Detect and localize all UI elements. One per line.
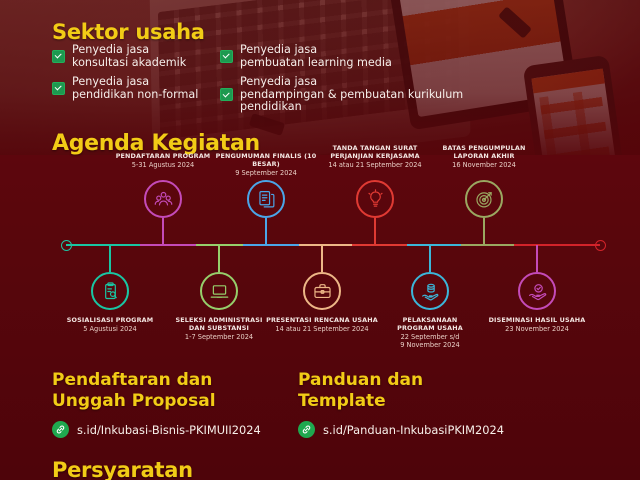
milestone-title: DISEMINASI HASIL USAHA <box>473 316 601 324</box>
timeline-start-marker <box>61 240 72 251</box>
persyaratan-heading: Persyaratan <box>52 458 193 480</box>
sektor-usaha-heading: Sektor usaha <box>52 20 205 44</box>
link-chain-icon <box>52 421 69 438</box>
timeline-node-4 <box>303 272 341 310</box>
hand-check-icon <box>527 281 548 302</box>
timeline-node-0 <box>91 272 129 310</box>
sektor-item-0: Penyedia jasa konsultasi akademik <box>52 44 186 69</box>
timeline-node-1 <box>144 180 182 218</box>
briefcase-icon <box>312 281 333 302</box>
timeline-stem <box>218 245 220 272</box>
infographic-canvas: Sektor usaha Penyedia jasa konsultasi ak… <box>0 0 640 480</box>
link-row[interactable]: s.id/Panduan-InkubasiPKIM2024 <box>298 421 504 438</box>
timeline-segment <box>461 244 514 246</box>
timeline-node-3 <box>247 180 285 218</box>
sektor-item-label: Penyedia jasa pendidikan non-formal <box>72 76 198 101</box>
people-group-icon <box>153 189 174 210</box>
timeline-stem <box>162 218 164 245</box>
milestone-date: 1-7 September 2024 <box>155 333 283 341</box>
timeline-stem <box>536 245 538 272</box>
link-url[interactable]: s.id/Inkubasi-Bisnis-PKIMUII2024 <box>77 423 261 437</box>
timeline-stem <box>483 218 485 245</box>
sektor-item-label: Penyedia jasa pembuatan learning media <box>240 44 392 69</box>
timeline-segment <box>243 244 299 246</box>
timeline-stem <box>265 218 267 245</box>
checkbox-checked-icon <box>220 88 233 101</box>
checkbox-checked-icon <box>52 50 65 63</box>
link-chain-icon <box>298 421 315 438</box>
timeline-end-marker <box>595 240 606 251</box>
milestone-title: BATAS PENGUMPULAN LAPORAN AKHIR <box>420 144 548 160</box>
timeline-segment <box>352 244 407 246</box>
link-block-pendaftaran: Pendaftaran dan Unggah Proposal s.id/Ink… <box>52 370 261 438</box>
timeline-segment <box>407 244 461 246</box>
agenda-timeline: SOSIALISASI PROGRAM5 Agustusi 2024PENDAF… <box>0 150 640 365</box>
timeline-node-8 <box>518 272 556 310</box>
timeline-stem <box>374 218 376 245</box>
link-row[interactable]: s.id/Inkubasi-Bisnis-PKIMUII2024 <box>52 421 261 438</box>
link-url[interactable]: s.id/Panduan-InkubasiPKIM2024 <box>323 423 504 437</box>
lightbulb-icon <box>365 189 386 210</box>
milestone-date: 9 September 2024 <box>202 169 330 177</box>
milestone-date: 22 September s/d 9 November 2024 <box>366 333 494 350</box>
timeline-stem <box>321 245 323 272</box>
timeline-stem <box>429 245 431 272</box>
timeline-node-5 <box>356 180 394 218</box>
timeline-segment-end <box>514 244 600 246</box>
timeline-label-8: DISEMINASI HASIL USAHA23 November 2024 <box>473 316 601 333</box>
timeline-node-7 <box>465 180 503 218</box>
milestone-date: 23 November 2024 <box>473 325 601 333</box>
laptop-icon <box>209 281 230 302</box>
sektor-item-3: Penyedia jasa pendampingan & pembuatan k… <box>220 76 463 114</box>
checkbox-checked-icon <box>220 50 233 63</box>
link-title: Panduan dan Template <box>298 370 504 412</box>
sektor-item-label: Penyedia jasa pendampingan & pembuatan k… <box>240 76 463 114</box>
timeline-node-6 <box>411 272 449 310</box>
checkbox-checked-icon <box>52 82 65 95</box>
timeline-label-7: BATAS PENGUMPULAN LAPORAN AKHIR16 Novemb… <box>420 144 548 169</box>
target-icon <box>474 189 495 210</box>
milestone-date: 16 November 2024 <box>420 161 548 169</box>
sektor-item-2: Penyedia jasa pembuatan learning media <box>220 44 392 69</box>
link-block-panduan: Panduan dan Template s.id/Panduan-Inkuba… <box>298 370 504 438</box>
sektor-item-label: Penyedia jasa konsultasi akademik <box>72 44 186 69</box>
timeline-segment <box>299 244 352 246</box>
timeline-segment <box>66 244 140 246</box>
documents-icon <box>256 189 277 210</box>
timeline-segment <box>140 244 196 246</box>
clipboard-search-icon <box>100 281 121 302</box>
link-title: Pendaftaran dan Unggah Proposal <box>52 370 261 412</box>
money-hand-icon <box>420 281 441 302</box>
sektor-item-1: Penyedia jasa pendidikan non-formal <box>52 76 198 101</box>
timeline-node-2 <box>200 272 238 310</box>
timeline-stem <box>109 245 111 272</box>
